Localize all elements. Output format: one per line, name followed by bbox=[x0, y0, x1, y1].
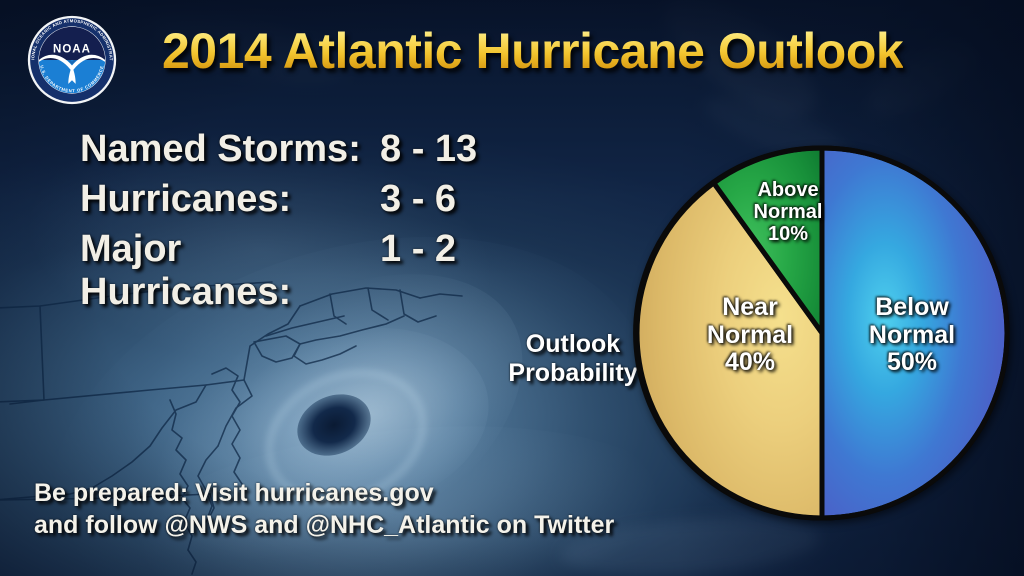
pie-label-percent: 50% bbox=[842, 349, 982, 377]
pie-label-line-2: Normal bbox=[842, 322, 982, 350]
pie-label-line-1: Below bbox=[842, 294, 982, 322]
footer-line-1: Be prepared: Visit hurricanes.gov bbox=[34, 477, 614, 509]
page-title: 2014 Atlantic Hurricane Outlook bbox=[162, 22, 903, 80]
forecast-row: Hurricanes: 3 - 6 bbox=[80, 178, 477, 228]
caption-line-1: Outlook bbox=[498, 330, 648, 359]
pie-label-below-normal: Below Normal 50% bbox=[842, 294, 982, 377]
forecast-label: Hurricanes: bbox=[80, 178, 380, 221]
hurricane-outlook-graphic: NOAA NATIONAL OCEANIC AND ATMOSPHERIC AD… bbox=[0, 0, 1024, 576]
forecast-label: Major Hurricanes: bbox=[80, 228, 380, 314]
forecast-value: 1 - 2 bbox=[380, 228, 456, 271]
forecast-row: Named Storms: 8 - 13 bbox=[80, 128, 477, 178]
caption-line-2: Probability bbox=[498, 359, 648, 388]
svg-text:NOAA: NOAA bbox=[53, 44, 91, 56]
outlook-probability-caption: Outlook Probability bbox=[498, 330, 648, 388]
pie-label-percent: 10% bbox=[742, 223, 834, 245]
forecast-value: 3 - 6 bbox=[380, 178, 456, 221]
pie-label-near-normal: Near Normal 40% bbox=[685, 294, 815, 377]
footer-message: Be prepared: Visit hurricanes.gov and fo… bbox=[34, 477, 614, 541]
outlook-probability-pie-chart: Below Normal 50% Near Normal 40% Above N… bbox=[630, 141, 1014, 525]
noaa-logo-icon: NOAA NATIONAL OCEANIC AND ATMOSPHERIC AD… bbox=[26, 14, 118, 106]
pie-label-above-normal: Above Normal 10% bbox=[742, 179, 834, 245]
forecast-label: Named Storms: bbox=[80, 128, 380, 171]
footer-line-2: and follow @NWS and @NHC_Atlantic on Twi… bbox=[34, 509, 614, 541]
forecast-list: Named Storms: 8 - 13 Hurricanes: 3 - 6 M… bbox=[80, 128, 477, 278]
pie-label-line-1: Above bbox=[742, 179, 834, 201]
pie-label-line-1: Near bbox=[685, 294, 815, 322]
pie-label-line-2: Normal bbox=[685, 322, 815, 350]
pie-label-percent: 40% bbox=[685, 349, 815, 377]
forecast-row: Major Hurricanes: 1 - 2 bbox=[80, 228, 477, 278]
forecast-value: 8 - 13 bbox=[380, 128, 477, 171]
pie-label-line-2: Normal bbox=[742, 201, 834, 223]
